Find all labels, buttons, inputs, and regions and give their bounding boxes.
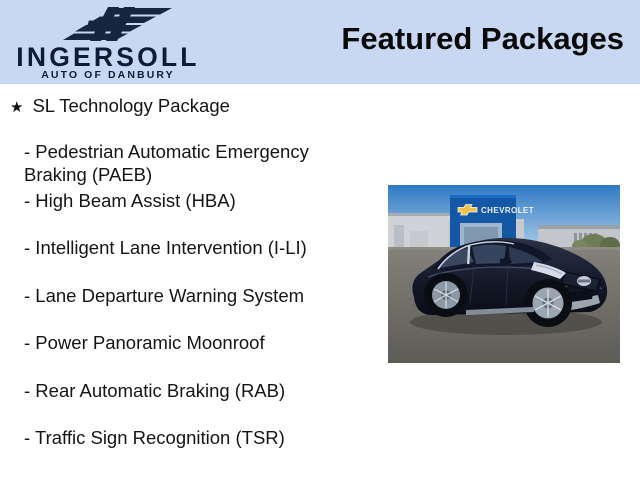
- dealer-wordmark: INGERSOLL: [8, 44, 208, 71]
- slide-canvas: INGERSOLL AUTO OF DANBURY Featured Packa…: [0, 0, 640, 480]
- list-item: - Power Panoramic Moonroof: [24, 331, 354, 354]
- package-heading: ★ SL Technology Package: [10, 97, 230, 116]
- list-item: - Lane Departure Warning System: [24, 284, 354, 307]
- ingersoll-winged-emblem-icon: [56, 5, 184, 43]
- svg-text:CHEVROLET: CHEVROLET: [481, 206, 534, 215]
- vehicle-photo: CHEVROLET: [388, 185, 620, 363]
- list-item: - Rear Automatic Braking (RAB): [24, 379, 354, 402]
- package-heading-label: SL Technology Package: [32, 97, 229, 116]
- list-item: - Traffic Sign Recognition (TSR): [24, 426, 354, 449]
- list-item: - Intelligent Lane Intervention (I-LI): [24, 236, 354, 259]
- page-title: Featured Packages: [341, 22, 624, 56]
- list-item: - High Beam Assist (HBA): [24, 189, 354, 212]
- dealer-logo: INGERSOLL AUTO OF DANBURY: [8, 2, 208, 82]
- list-item: - Pedestrian Automatic Emergency Braking…: [24, 140, 354, 186]
- feature-list: ★ SL Technology Package - Pedestrian Aut…: [0, 84, 372, 480]
- dealer-subwordmark: AUTO OF DANBURY: [8, 70, 208, 81]
- star-bullet-icon: ★: [10, 100, 23, 115]
